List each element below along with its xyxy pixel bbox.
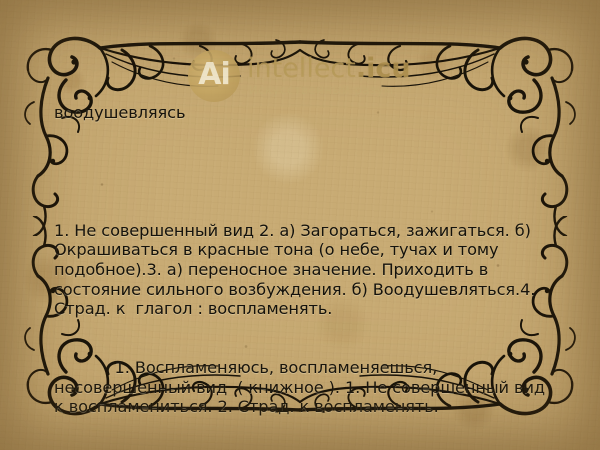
definition-paragraph-2: 1. Воспламеняюсь, воспламеняешься, несов… (54, 358, 556, 417)
headword: воодушевляясь (54, 103, 556, 123)
parchment-page: Ai intellect.icu Искусственный разум воо… (0, 0, 600, 450)
dictionary-article: воодушевляясь 1. Не совершенный вид 2. а… (54, 64, 556, 450)
definition-paragraph-1: 1. Не совершенный вид 2. а) Загораться, … (54, 221, 556, 319)
spacer (54, 162, 556, 182)
